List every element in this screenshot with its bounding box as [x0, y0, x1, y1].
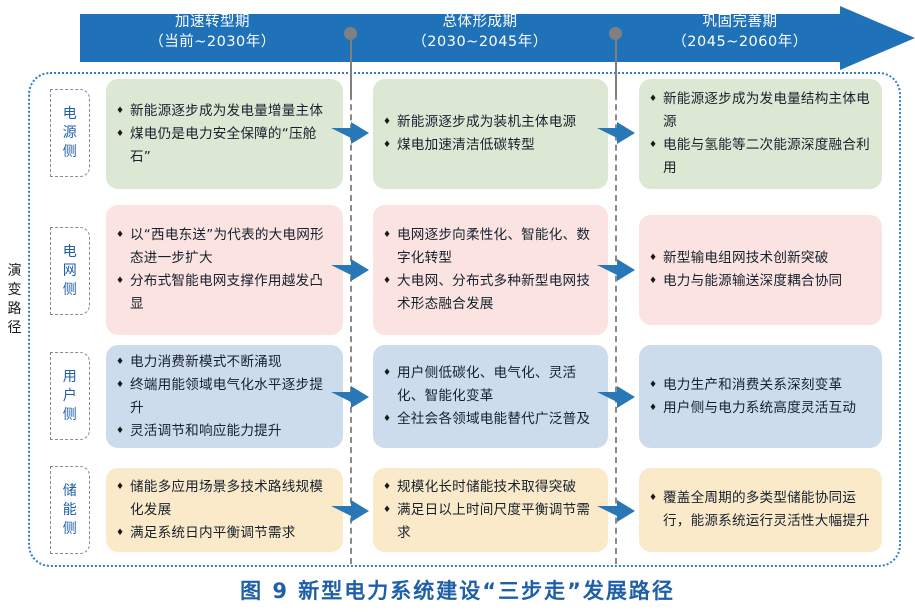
- cell-grid-phase2: 电网逐步向柔性化、智能化、数字化转型 大电网、分布式多种新型电网技术形态融合发展: [373, 205, 608, 335]
- list-item: 煤电加速清洁低碳转型: [383, 134, 598, 157]
- cell-power-source-phase2: 新能源逐步成为装机主体电源 煤电加速清洁低碳转型: [373, 79, 608, 189]
- axis-label-evolution-path: 演 变 路 径: [2, 262, 28, 338]
- cell-grid-phase3: 新型输电组网技术创新突破 电力与能源输送深度耦合协同: [639, 215, 882, 325]
- row-tab-power-source[interactable]: 电 源 侧: [50, 89, 90, 177]
- list-item: 终端用能领域电气化水平逐步提升: [116, 374, 333, 420]
- cell-list: 新能源逐步成为发电量结构主体电源 电能与氢能等二次能源深度融合利用: [649, 88, 872, 180]
- axis-label-c1: 演: [8, 262, 23, 281]
- cell-storage-phase3: 覆盖全周期的多类型储能协同运行，能源系统运行灵活性大幅提升: [639, 468, 882, 552]
- cell-storage-phase1: 储能多应用场景多技术路线规模化发展 满足系统日内平衡调节需求: [106, 468, 343, 552]
- row-tab-power-source-c2: 源: [63, 124, 78, 143]
- list-item: 电力与能源输送深度耦合协同: [649, 270, 872, 293]
- row-tab-user[interactable]: 用 户 侧: [50, 352, 90, 440]
- row-tab-storage-c1: 储: [63, 482, 78, 501]
- list-item: 电网逐步向柔性化、智能化、数字化转型: [383, 224, 598, 270]
- cell-storage-phase2: 规模化长时储能技术取得突破 满足日以上时间尺度平衡调节需求: [373, 468, 608, 552]
- phase-2-name: 总体形成期: [443, 12, 518, 32]
- list-item: 新能源逐步成为发电量增量主体: [116, 100, 333, 123]
- list-item: 分布式智能电网支撑作用越发凸显: [116, 270, 333, 316]
- cell-list: 以“西电东送”为代表的大电网形态进一步扩大 分布式智能电网支撑作用越发凸显: [116, 224, 333, 316]
- list-item: 新能源逐步成为发电量结构主体电源: [649, 88, 872, 134]
- cell-user-phase1: 电力消费新模式不断涌现 终端用能领域电气化水平逐步提升 灵活调节和响应能力提升: [106, 345, 343, 448]
- list-item: 新能源逐步成为装机主体电源: [383, 111, 598, 134]
- list-item: 以“西电东送”为代表的大电网形态进一步扩大: [116, 224, 333, 270]
- cell-grid-phase1: 以“西电东送”为代表的大电网形态进一步扩大 分布式智能电网支撑作用越发凸显: [106, 205, 343, 335]
- figure-caption: 图 9 新型电力系统建设“三步走”发展路径: [0, 575, 915, 605]
- cell-list: 电力消费新模式不断涌现 终端用能领域电气化水平逐步提升 灵活调节和响应能力提升: [116, 351, 333, 443]
- list-item: 电能与氢能等二次能源深度融合利用: [649, 134, 872, 180]
- cell-list: 储能多应用场景多技术路线规模化发展 满足系统日内平衡调节需求: [116, 476, 333, 545]
- column-separator-1: [350, 74, 352, 564]
- phase-1-years: （当前~2030年）: [149, 32, 276, 52]
- timeline-phase-2: 总体形成期 （2030~2045年）: [345, 8, 615, 56]
- list-item: 煤电仍是电力安全保障的“压舱石”: [116, 123, 333, 169]
- list-item: 用户侧与电力系统高度灵活互动: [649, 397, 872, 420]
- row-tab-user-c1: 用: [63, 368, 78, 387]
- row-tab-power-source-c3: 侧: [63, 143, 78, 162]
- phase-2-years: （2030~2045年）: [412, 32, 547, 52]
- timeline-phase-3: 巩固完善期 （2045~2060年）: [615, 8, 865, 56]
- row-tab-user-c3: 侧: [63, 406, 78, 425]
- list-item: 新型输电组网技术创新突破: [649, 247, 872, 270]
- cell-list: 电力生产和消费关系深刻变革 用户侧与电力系统高度灵活互动: [649, 374, 872, 420]
- cell-power-source-phase3: 新能源逐步成为发电量结构主体电源 电能与氢能等二次能源深度融合利用: [639, 79, 882, 189]
- list-item: 灵活调节和响应能力提升: [116, 420, 333, 443]
- figure-root: 加速转型期 （当前~2030年） 总体形成期 （2030~2045年） 巩固完善…: [0, 0, 915, 613]
- row-tab-grid-c3: 侧: [63, 281, 78, 300]
- cell-list: 电网逐步向柔性化、智能化、数字化转型 大电网、分布式多种新型电网技术形态融合发展: [383, 224, 598, 316]
- phase-3-name: 巩固完善期: [703, 12, 778, 32]
- cell-list: 覆盖全周期的多类型储能协同运行，能源系统运行灵活性大幅提升: [649, 487, 872, 533]
- row-tab-grid[interactable]: 电 网 侧: [50, 227, 90, 315]
- cell-list: 新能源逐步成为装机主体电源 煤电加速清洁低碳转型: [383, 111, 598, 157]
- list-item: 满足系统日内平衡调节需求: [116, 522, 333, 545]
- axis-label-c3: 路: [8, 300, 23, 319]
- phase-1-name: 加速转型期: [175, 12, 250, 32]
- cell-user-phase2: 用户侧低碳化、电气化、灵活化、智能化变革 全社会各领域电能替代广泛普及: [373, 345, 608, 448]
- list-item: 满足日以上时间尺度平衡调节需求: [383, 499, 598, 545]
- row-tab-grid-c1: 电: [63, 243, 78, 262]
- row-tab-grid-c2: 网: [63, 262, 78, 281]
- list-item: 规模化长时储能技术取得突破: [383, 476, 598, 499]
- list-item: 储能多应用场景多技术路线规模化发展: [116, 476, 333, 522]
- list-item: 覆盖全周期的多类型储能协同运行，能源系统运行灵活性大幅提升: [649, 487, 872, 533]
- row-tab-storage-c2: 能: [63, 501, 78, 520]
- column-separator-2: [615, 74, 617, 564]
- list-item: 电力消费新模式不断涌现: [116, 351, 333, 374]
- list-item: 用户侧低碳化、电气化、灵活化、智能化变革: [383, 362, 598, 408]
- list-item: 大电网、分布式多种新型电网技术形态融合发展: [383, 270, 598, 316]
- timeline-phase-1: 加速转型期 （当前~2030年）: [80, 8, 345, 56]
- row-tab-storage-c3: 侧: [63, 520, 78, 539]
- row-tab-power-source-c1: 电: [63, 105, 78, 124]
- axis-label-c2: 变: [8, 281, 23, 300]
- cell-list: 新能源逐步成为发电量增量主体 煤电仍是电力安全保障的“压舱石”: [116, 100, 333, 169]
- row-tab-user-c2: 户: [63, 387, 78, 406]
- axis-label-c4: 径: [8, 319, 23, 338]
- cell-power-source-phase1: 新能源逐步成为发电量增量主体 煤电仍是电力安全保障的“压舱石”: [106, 79, 343, 189]
- list-item: 全社会各领域电能替代广泛普及: [383, 408, 598, 431]
- cell-list: 用户侧低碳化、电气化、灵活化、智能化变革 全社会各领域电能替代广泛普及: [383, 362, 598, 431]
- list-item: 电力生产和消费关系深刻变革: [649, 374, 872, 397]
- cell-list: 新型输电组网技术创新突破 电力与能源输送深度耦合协同: [649, 247, 872, 293]
- phase-3-years: （2045~2060年）: [672, 32, 807, 52]
- row-tab-storage[interactable]: 储 能 侧: [50, 466, 90, 554]
- cell-user-phase3: 电力生产和消费关系深刻变革 用户侧与电力系统高度灵活互动: [639, 345, 882, 448]
- cell-list: 规模化长时储能技术取得突破 满足日以上时间尺度平衡调节需求: [383, 476, 598, 545]
